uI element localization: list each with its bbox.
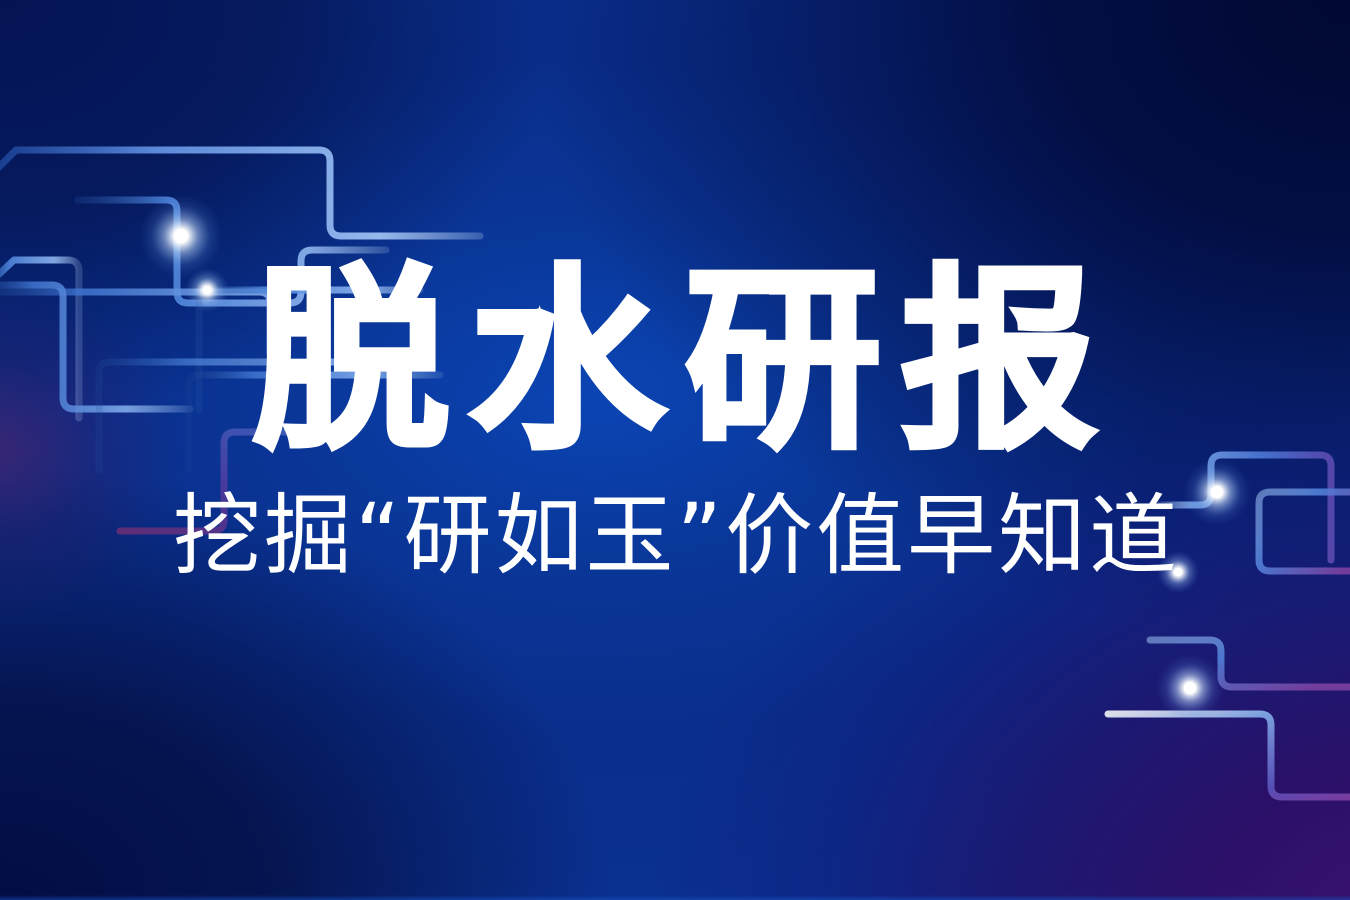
trace-left-8 [189,375,440,470]
headline-block: 脱水研报 挖掘“研如玉”价值早知道 [0,262,1350,584]
node-glow-right-lower [1156,654,1224,722]
trace-left-5 [0,285,190,409]
page-title: 脱水研报 [0,262,1350,462]
trace-right-1 [1160,455,1331,560]
background-center-glow [0,0,1350,900]
node-core-right-mid [1174,568,1183,577]
background-base [0,0,1350,900]
background-bottom-edge-line [0,0,1350,900]
trace-left-3 [78,200,386,303]
node-glow-right-mid [1157,551,1199,593]
node-core-left-lower [203,286,212,295]
background-top-left-shade [0,0,1350,900]
trace-right-2 [1259,492,1350,571]
node-core-right-lower [1184,682,1196,694]
trace-left-4 [0,292,380,362]
trace-right-4 [1108,714,1350,797]
trace-left-1 [0,150,480,236]
trace-left-10 [120,432,340,531]
background-left-purple-tint [0,0,1350,900]
trace-left-9 [99,362,390,470]
trace-left-6 [199,290,420,410]
banner-root: 脱水研报 挖掘“研如玉”价值早知道 [0,0,1350,900]
trace-right-3 [1150,640,1350,687]
background-bottom-right-purple [0,0,1350,900]
node-core-right-upper [1211,486,1223,498]
trace-left-2 [0,260,79,418]
circuit-nodes [139,194,1251,722]
circuit-decoration [0,0,1350,900]
background-bottom-left-shade [0,0,1350,900]
node-core-left-upper [174,229,188,243]
node-glow-left-upper [139,194,223,278]
background-top-right-shade [0,0,1350,900]
page-subtitle: 挖掘“研如玉”价值早知道 [0,462,1350,584]
node-glow-right-upper [1183,458,1251,526]
node-glow-left-lower [185,268,229,312]
